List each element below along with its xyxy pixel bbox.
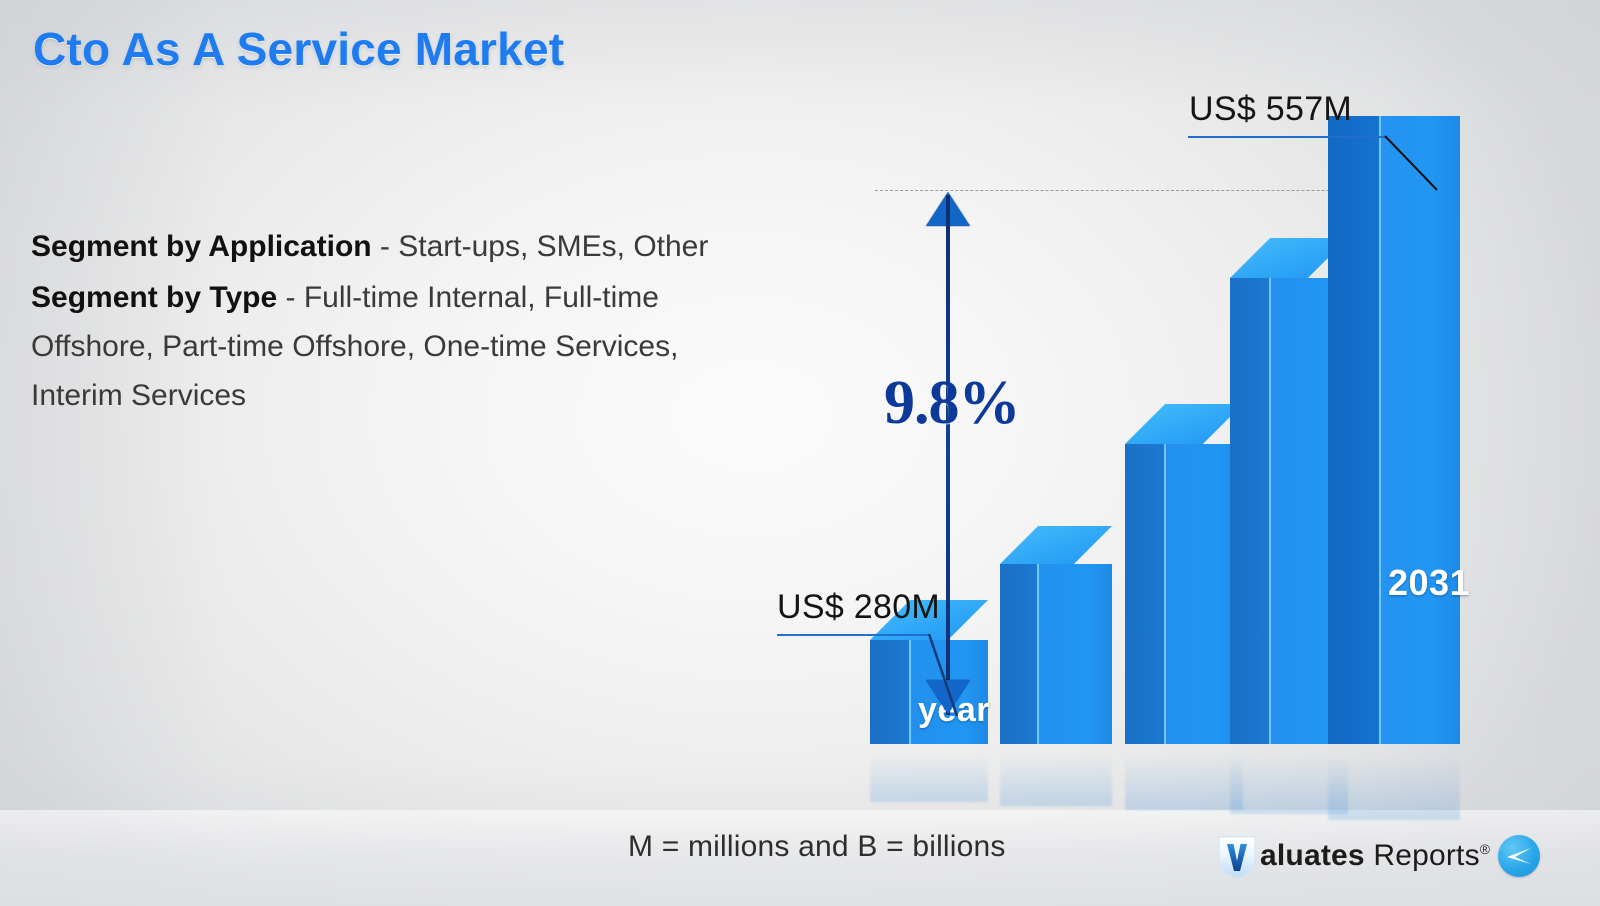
bar-5: 2031 (1328, 116, 1460, 744)
bar-reflection-3 (1125, 744, 1243, 810)
bar-2-top-face (1000, 526, 1112, 564)
cagr-value-label: 9.8% (884, 368, 1020, 439)
bar-2-edge-highlight (1037, 564, 1039, 744)
logo-word-reports: Reports (1373, 839, 1479, 872)
base-callout-underline (777, 634, 929, 636)
units-footnote: M = millions and B = billions (628, 830, 1006, 864)
bar-3 (1125, 444, 1243, 744)
bar-4-edge-highlight (1269, 278, 1271, 744)
bar-5-front-face (1380, 116, 1460, 744)
cagr-arrow-shaft (946, 195, 950, 715)
valuates-v-shield-icon (1216, 833, 1258, 879)
page-title: Cto As A Service Market (33, 22, 564, 76)
base-value-label: US$ 280M (777, 588, 940, 627)
bar-chart: year (840, 140, 1540, 840)
valuates-wordmark: aluates Reports® (1260, 839, 1490, 873)
bar-5-side-face (1328, 116, 1380, 744)
forecast-callout-underline (1188, 136, 1385, 138)
bar-2-front-face (1038, 564, 1112, 744)
bar-1-side-face (870, 640, 910, 744)
bar-reflection-2 (1000, 744, 1112, 806)
segment-application-body: - Start-ups, SMEs, Other (372, 230, 709, 263)
bar-2 (1000, 564, 1112, 744)
logo-registered-mark: ® (1480, 841, 1491, 857)
segment-description-block: Segment by Application - Start-ups, SMEs… (31, 222, 731, 422)
bar-2-side-face (1000, 564, 1038, 744)
segment-type: Segment by Type - Full-time Internal, Fu… (31, 273, 731, 420)
logo-word-aluates: aluates (1260, 839, 1365, 872)
forecast-value-label: US$ 557M (1189, 90, 1352, 129)
bar-1-edge-highlight (909, 640, 911, 744)
bar-5-caption: 2031 (1388, 562, 1470, 604)
bar-5-edge-highlight (1379, 116, 1381, 744)
bar-reflection-5 (1328, 744, 1460, 820)
bar-3-edge-highlight (1164, 444, 1166, 744)
segment-application: Segment by Application - Start-ups, SMEs… (31, 222, 731, 271)
bar-4-side-face (1230, 278, 1270, 744)
paper-plane-icon[interactable] (1498, 835, 1540, 877)
segment-type-label: Segment by Type (31, 281, 277, 314)
segment-application-label: Segment by Application (31, 230, 372, 263)
infographic-canvas: Cto As A Service Market Segment by Appli… (0, 0, 1600, 906)
valuates-reports-logo[interactable]: aluates Reports® (1216, 828, 1540, 884)
cagr-arrow-down-icon (926, 680, 970, 714)
bar-reflection-1 (870, 744, 988, 802)
bar-3-side-face (1125, 444, 1165, 744)
bar-3-top-face (1125, 404, 1243, 444)
